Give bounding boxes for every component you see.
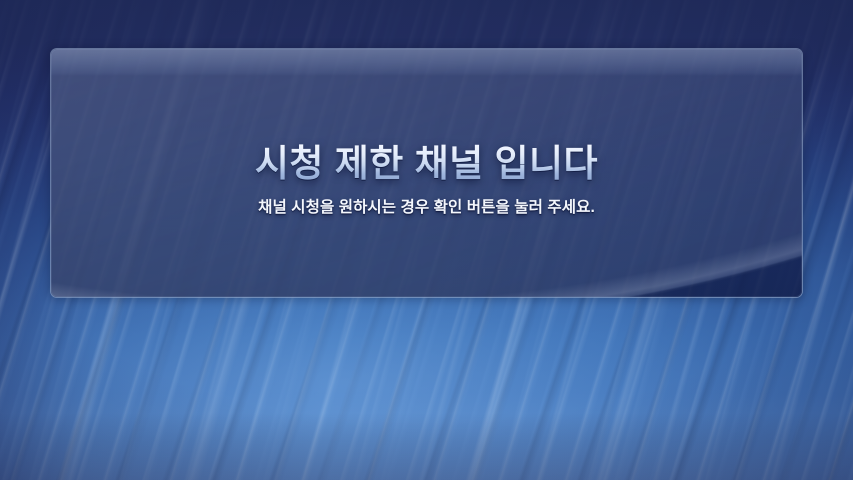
dialog-subtitle: 채널 시청을 원하시는 경우 확인 버튼을 눌러 주세요.: [258, 195, 595, 217]
dialog-message-block: 시청 제한 채널 입니다 채널 시청을 원하시는 경우 확인 버튼을 눌러 주세…: [51, 49, 802, 297]
tv-osd-screen: 시청 제한 채널 입니다 채널 시청을 원하시는 경우 확인 버튼을 눌러 주세…: [0, 0, 853, 480]
restricted-channel-dialog: 시청 제한 채널 입니다 채널 시청을 원하시는 경우 확인 버튼을 눌러 주세…: [50, 48, 803, 298]
dialog-title: 시청 제한 채널 입니다: [255, 144, 598, 184]
